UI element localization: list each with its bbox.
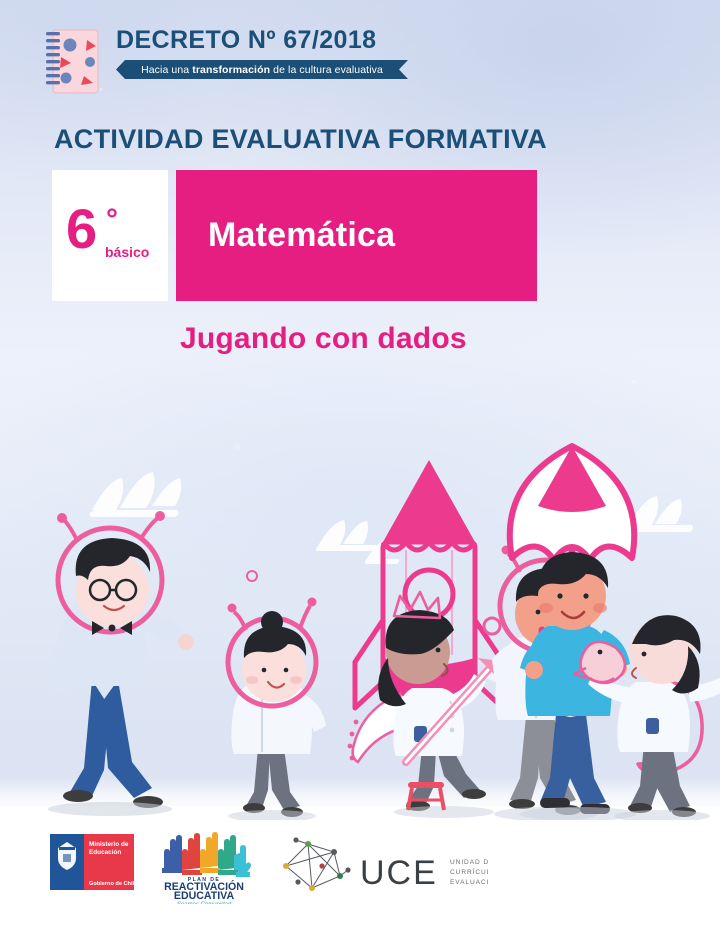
grade-badge: 6 ° básico bbox=[52, 170, 168, 301]
decree-text-block: DECRETO Nº 67/2018 Hacia una transformac… bbox=[116, 28, 422, 79]
grade-degree-symbol: ° bbox=[106, 205, 118, 235]
decree-title: DECRETO Nº 67/2018 bbox=[116, 28, 422, 53]
cloud-icon bbox=[316, 520, 377, 551]
plan-reactivacion-logo: PLAN DE REACTIVACIÓN EDUCATIVA Seamos Co… bbox=[156, 828, 252, 904]
plan-line3: EDUCATIVA bbox=[174, 890, 235, 902]
cover-illustration bbox=[0, 430, 720, 820]
grade-inner: 6 ° básico bbox=[64, 205, 156, 267]
document-cover: DECRETO Nº 67/2018 Hacia una transformac… bbox=[0, 0, 720, 932]
uce-acronym: UCE bbox=[360, 854, 438, 892]
decree-logo: DECRETO Nº 67/2018 Hacia una transformac… bbox=[44, 26, 424, 100]
uce-line1: UNIDAD DE bbox=[450, 859, 488, 866]
decree-ribbon-text: Hacia una transformación de la cultura e… bbox=[141, 64, 383, 76]
grade-level-label: básico bbox=[105, 245, 149, 259]
mineduc-line3: Gobierno de Chile bbox=[89, 881, 134, 887]
uce-logo: UCE UNIDAD DE CURRÍCULUM Y EVALUACIÓN bbox=[278, 836, 488, 898]
child-with-glasses bbox=[44, 511, 257, 816]
activity-title: Jugando con dados bbox=[180, 322, 467, 356]
decree-ribbon: Hacia una transformación de la cultura e… bbox=[116, 60, 408, 79]
plan-line4: Seamos Comunidad bbox=[177, 902, 232, 904]
mineduc-line1: Ministerio de bbox=[89, 841, 129, 848]
uce-line2: CURRÍCULUM Y bbox=[450, 867, 488, 876]
spiral-notebook-icon bbox=[44, 26, 102, 96]
subject-bar: Matemática bbox=[176, 170, 537, 301]
network-nodes-icon bbox=[286, 840, 348, 888]
mineduc-logo: Ministerio de Educación Gobierno de Chil… bbox=[50, 834, 134, 890]
small-child bbox=[228, 598, 327, 821]
footer-logos: Ministerio de Educación Gobierno de Chil… bbox=[0, 824, 720, 914]
grade-number: 6 bbox=[66, 201, 97, 257]
child-with-sword bbox=[348, 592, 494, 818]
uce-line3: EVALUACIÓN bbox=[450, 877, 488, 886]
mineduc-line2: Educación bbox=[89, 849, 121, 856]
page-title: ACTIVIDAD EVALUATIVA FORMATIVA bbox=[54, 124, 547, 155]
subject-name: Matemática bbox=[208, 216, 395, 255]
cloud-icon bbox=[90, 472, 182, 517]
raised-hands-icon bbox=[162, 832, 251, 877]
